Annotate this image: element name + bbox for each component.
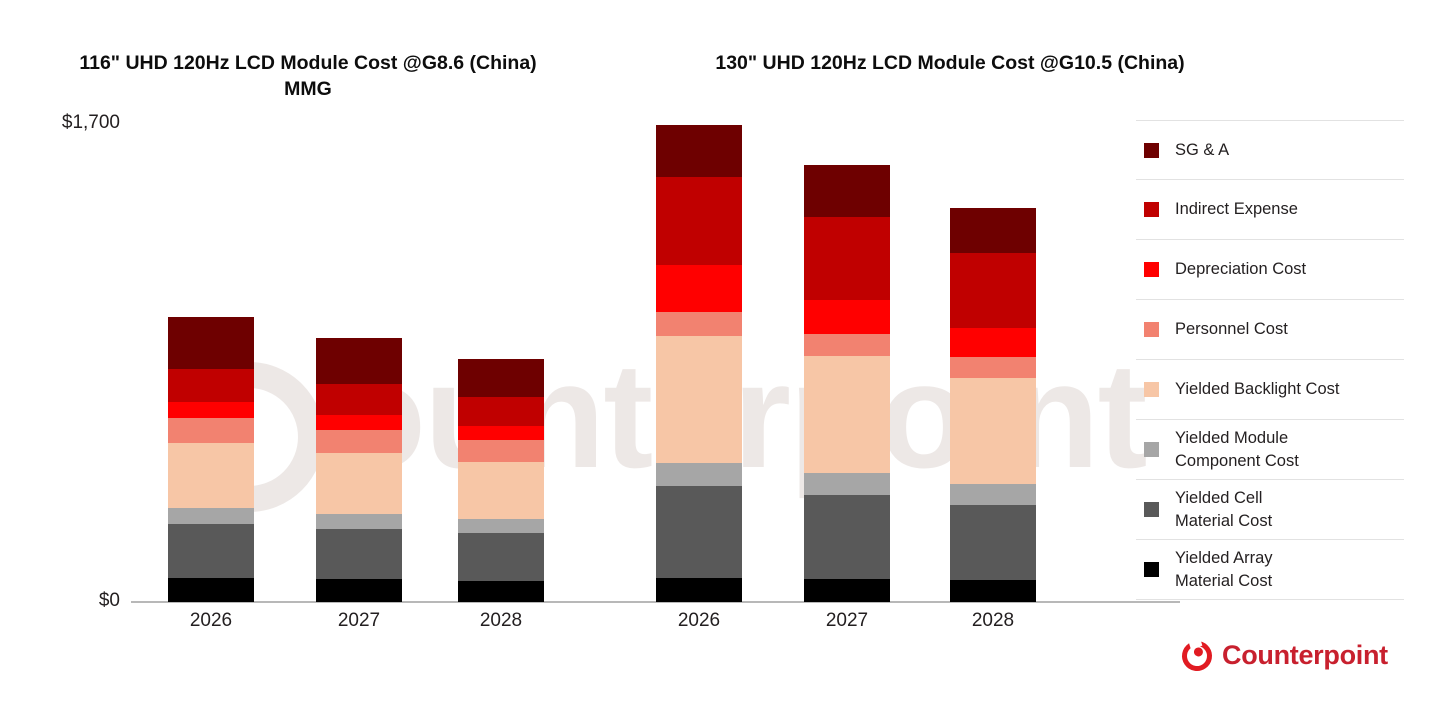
legend-item[interactable]: Personnel Cost — [1136, 300, 1404, 360]
bar-segment[interactable] — [458, 359, 544, 397]
bar-segment[interactable] — [804, 473, 890, 495]
counterpoint-logo-icon — [1176, 635, 1218, 677]
bar-2027-chart2[interactable] — [804, 165, 890, 602]
chart-title-right: 130" UHD 120Hz LCD Module Cost @G10.5 (C… — [600, 50, 1300, 76]
bar-segment[interactable] — [458, 581, 544, 602]
bar-segment[interactable] — [168, 578, 254, 602]
legend-swatch-icon — [1144, 442, 1159, 457]
bar-segment[interactable] — [316, 415, 402, 430]
bar-segment[interactable] — [656, 312, 742, 336]
legend-swatch-icon — [1144, 143, 1159, 158]
counterpoint-logo: Counterpoint — [1182, 640, 1388, 671]
counterpoint-logo-text: Counterpoint — [1222, 640, 1388, 671]
legend-swatch-icon — [1144, 262, 1159, 277]
legend-item[interactable]: Yielded Module Component Cost — [1136, 420, 1404, 480]
bar-segment[interactable] — [316, 338, 402, 384]
bar-segment[interactable] — [950, 328, 1036, 357]
bar-segment[interactable] — [804, 495, 890, 579]
legend-item[interactable]: Yielded Cell Material Cost — [1136, 480, 1404, 540]
legend-item[interactable]: Depreciation Cost — [1136, 240, 1404, 300]
legend: SG & AIndirect ExpenseDepreciation CostP… — [1136, 120, 1404, 600]
legend-item[interactable]: Yielded Backlight Cost — [1136, 360, 1404, 420]
legend-swatch-icon — [1144, 382, 1159, 397]
bar-segment[interactable] — [316, 453, 402, 514]
bar-2026-chart2[interactable] — [656, 125, 742, 602]
bar-segment[interactable] — [804, 356, 890, 473]
bar-segment[interactable] — [950, 357, 1036, 378]
bar-segment[interactable] — [656, 125, 742, 177]
bar-segment[interactable] — [316, 514, 402, 529]
legend-item-label: Yielded Array Material Cost — [1175, 547, 1273, 592]
bar-segment[interactable] — [950, 208, 1036, 253]
legend-swatch-icon — [1144, 322, 1159, 337]
bar-segment[interactable] — [656, 265, 742, 312]
bar-segment[interactable] — [950, 253, 1036, 328]
bar-segment[interactable] — [458, 519, 544, 533]
legend-item[interactable]: SG & A — [1136, 120, 1404, 180]
chart-title-left: 116" UHD 120Hz LCD Module Cost @G8.6 (Ch… — [78, 50, 538, 103]
bar-segment[interactable] — [950, 378, 1036, 484]
legend-item-label: Indirect Expense — [1175, 198, 1298, 220]
bar-segment[interactable] — [804, 217, 890, 300]
x-tick-label: 2027 — [804, 610, 890, 632]
legend-item-label: Personnel Cost — [1175, 318, 1288, 340]
legend-item-label: Yielded Cell Material Cost — [1175, 487, 1272, 532]
bar-2026-chart1[interactable] — [168, 317, 254, 602]
x-tick-label: 2028 — [458, 610, 544, 632]
bar-segment[interactable] — [656, 177, 742, 265]
legend-item-label: Yielded Backlight Cost — [1175, 378, 1339, 400]
legend-swatch-icon — [1144, 562, 1159, 577]
bar-segment[interactable] — [804, 334, 890, 356]
bar-segment[interactable] — [804, 579, 890, 602]
bar-segment[interactable] — [950, 505, 1036, 580]
legend-item[interactable]: Indirect Expense — [1136, 180, 1404, 240]
bar-segment[interactable] — [656, 463, 742, 486]
x-tick-label: 2026 — [168, 610, 254, 632]
bar-segment[interactable] — [168, 443, 254, 508]
bar-segment[interactable] — [458, 533, 544, 580]
y-axis-max-label: $1,700 — [30, 112, 120, 134]
bar-segment[interactable] — [316, 384, 402, 415]
legend-item[interactable]: Yielded Array Material Cost — [1136, 540, 1404, 600]
bar-segment[interactable] — [316, 579, 402, 601]
bar-segment[interactable] — [168, 524, 254, 578]
bar-segment[interactable] — [458, 426, 544, 440]
bar-segment[interactable] — [168, 369, 254, 402]
legend-item-label: Yielded Module Component Cost — [1175, 427, 1299, 472]
x-tick-label: 2027 — [316, 610, 402, 632]
bar-2027-chart1[interactable] — [316, 338, 402, 602]
bar-2028-chart2[interactable] — [950, 208, 1036, 602]
bar-segment[interactable] — [168, 317, 254, 369]
bar-segment[interactable] — [804, 300, 890, 334]
bar-segment[interactable] — [168, 402, 254, 418]
x-tick-label: 2026 — [656, 610, 742, 632]
bar-segment[interactable] — [168, 418, 254, 443]
bar-segment[interactable] — [656, 336, 742, 463]
bar-segment[interactable] — [950, 580, 1036, 602]
bar-segment[interactable] — [458, 440, 544, 462]
bar-segment[interactable] — [458, 462, 544, 519]
bar-segment[interactable] — [168, 508, 254, 524]
bar-segment[interactable] — [950, 484, 1036, 505]
bar-2028-chart1[interactable] — [458, 359, 544, 602]
y-axis-min-label: $0 — [30, 590, 120, 612]
legend-item-label: Depreciation Cost — [1175, 258, 1306, 280]
bar-segment[interactable] — [656, 578, 742, 602]
legend-swatch-icon — [1144, 502, 1159, 517]
x-tick-label: 2028 — [950, 610, 1036, 632]
bar-segment[interactable] — [316, 430, 402, 453]
bar-segment[interactable] — [316, 529, 402, 580]
bar-segment[interactable] — [656, 486, 742, 578]
bar-segment[interactable] — [804, 165, 890, 217]
legend-swatch-icon — [1144, 202, 1159, 217]
bar-segment[interactable] — [458, 397, 544, 426]
legend-item-label: SG & A — [1175, 139, 1229, 161]
